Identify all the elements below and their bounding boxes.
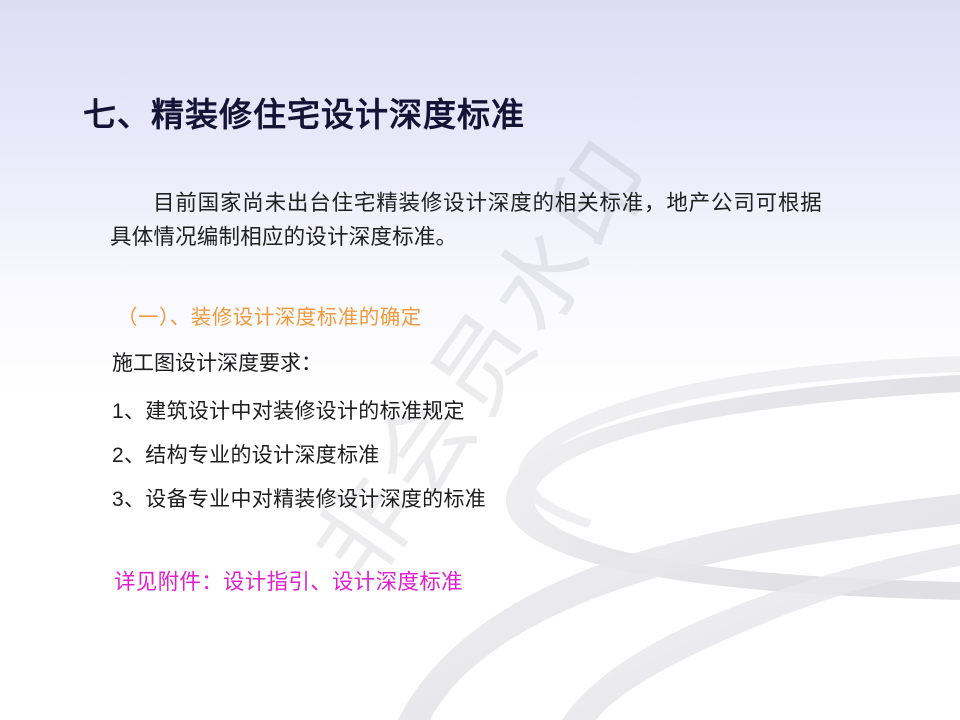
list-item: 2、结构专业的设计深度标准	[112, 439, 380, 469]
section-subheading: （一）、装修设计深度标准的确定	[117, 300, 422, 330]
intro-paragraph: 目前国家尚未出台住宅精装修设计深度的相关标准，地产公司可根据具体情况编制相应的设…	[110, 186, 822, 254]
list-item: 1、建筑设计中对装修设计的标准规定	[112, 395, 465, 425]
list-item: 3、设备专业中对精装修设计深度的标准	[112, 483, 486, 513]
presentation-slide: 非会员水印 七、精装修住宅设计深度标准 目前国家尚未出台住宅精装修设计深度的相关…	[0, 0, 960, 720]
slide-content: 七、精装修住宅设计深度标准 目前国家尚未出台住宅精装修设计深度的相关标准，地产公…	[0, 0, 960, 720]
requirement-label: 施工图设计深度要求：	[112, 347, 322, 377]
attachment-note: 详见附件：设计指引、设计深度标准	[114, 565, 463, 596]
slide-title: 七、精装修住宅设计深度标准	[83, 88, 525, 136]
